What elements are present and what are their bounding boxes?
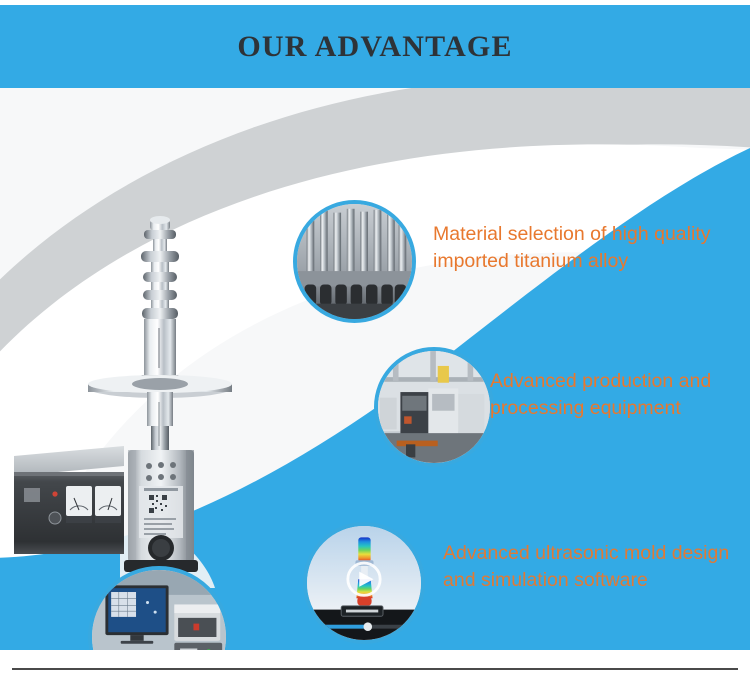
header-banner: OUR ADVANTAGE bbox=[0, 5, 750, 88]
ultrasonic-generator bbox=[14, 446, 124, 554]
ultrasonic-horn-stack bbox=[141, 216, 179, 382]
feature-text-production-equipment: Advanced production and processing equip… bbox=[490, 368, 740, 422]
feature-text-mold-design-simulation: Advanced ultrasonic mold design and simu… bbox=[443, 540, 743, 594]
cnc-workshop-illustration bbox=[378, 351, 490, 463]
footer-divider bbox=[12, 668, 738, 670]
qr-code bbox=[148, 494, 168, 514]
product-illustration bbox=[8, 188, 328, 588]
transducer-housing bbox=[124, 450, 198, 572]
feature-image-material-selection bbox=[293, 200, 416, 323]
page-title: OUR ADVANTAGE bbox=[237, 30, 512, 64]
advantage-infographic: OUR ADVANTAGE bbox=[0, 0, 750, 678]
product-photo bbox=[8, 188, 328, 588]
feature-text-material-selection: Material selection of high quality impor… bbox=[433, 221, 733, 275]
feature-image-mold-design-simulation bbox=[303, 522, 425, 644]
lower-shaft bbox=[147, 392, 173, 452]
feature-image-production-equipment bbox=[374, 347, 494, 467]
monitor bbox=[105, 585, 168, 643]
analyzer-unit bbox=[174, 604, 222, 650]
titanium-horns-illustration bbox=[297, 204, 412, 319]
simulation-video-illustration bbox=[307, 526, 421, 640]
footer-strip bbox=[0, 650, 750, 678]
content-stage: Material selection of high quality impor… bbox=[0, 88, 750, 650]
